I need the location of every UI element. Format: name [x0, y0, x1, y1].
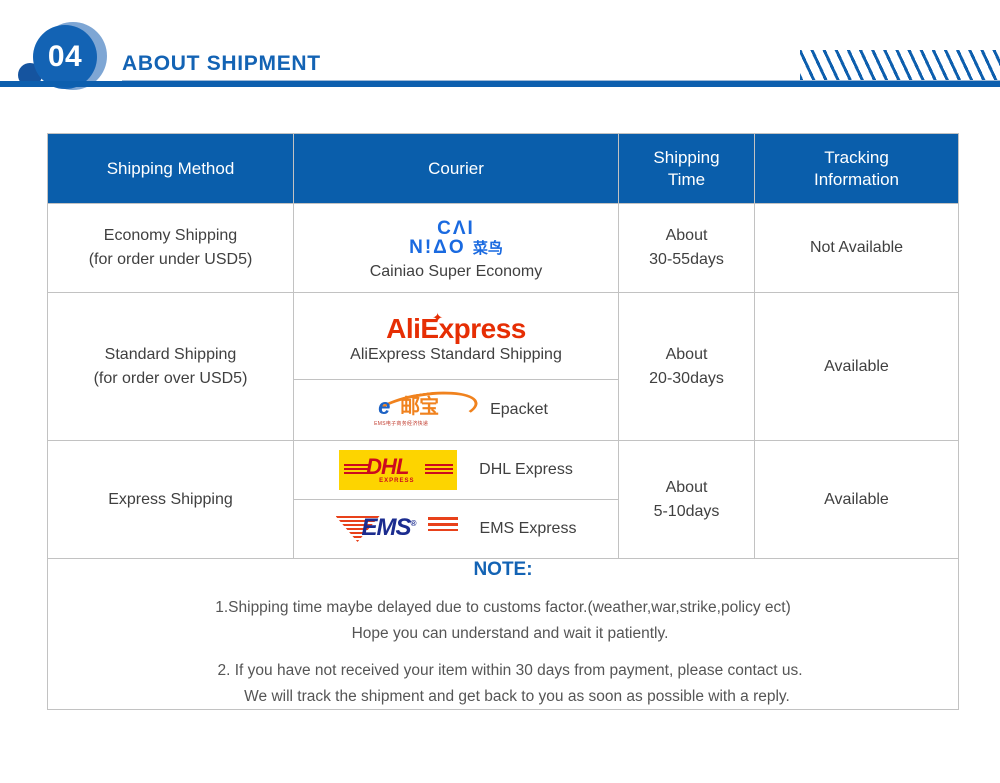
- cell-courier-ems: EMS® EMS Express: [294, 500, 619, 559]
- table-header: Shipping Method Courier Shipping Time Tr…: [48, 134, 959, 204]
- cell-shipping-method-standard: Standard Shipping (for order over USD5): [48, 293, 294, 441]
- time-line1: About: [619, 476, 754, 500]
- ems-logo-text: EMS®: [362, 516, 416, 540]
- header-thick-rule: [0, 81, 1000, 87]
- table-row-note: NOTE: 1.Shipping time maybe delayed due …: [48, 559, 959, 710]
- cell-courier-aliexpress: ✦ AliExpress AliExpress Standard Shippin…: [294, 293, 619, 380]
- courier-name: DHL Express: [479, 461, 573, 479]
- epacket-row: e 邮宝 EMS电子商务经济快递 Epacket: [294, 391, 618, 429]
- aliexpress-logo-icon: ✦ AliExpress: [386, 314, 526, 343]
- ems-logo-icon: EMS®: [336, 510, 458, 548]
- cainiao-logo-line1: CΛI: [294, 219, 618, 238]
- epacket-logo-chinese: 邮宝: [400, 397, 438, 417]
- note-line-1: 1.Shipping time maybe delayed due to cus…: [48, 595, 958, 621]
- table-row: Standard Shipping (for order over USD5) …: [48, 293, 959, 380]
- time-line1: About: [619, 343, 754, 367]
- courier-name: EMS Express: [480, 520, 577, 538]
- dhl-logo-subtitle: EXPRESS: [379, 478, 414, 484]
- column-header-shipping-time-line2: Time: [619, 169, 754, 190]
- shipping-table: Shipping Method Courier Shipping Time Tr…: [47, 133, 959, 710]
- dhl-speedlines-right-icon: [425, 464, 453, 474]
- method-line1: Express Shipping: [48, 488, 293, 512]
- ems-bars-icon: [428, 517, 458, 531]
- column-header-shipping-time: Shipping Time: [619, 134, 755, 204]
- column-header-courier: Courier: [294, 134, 619, 204]
- shipping-table-wrapper: Shipping Method Courier Shipping Time Tr…: [47, 133, 958, 710]
- cainiao-logo-line2: N!ΔO 菜鸟: [294, 238, 618, 257]
- cell-tracking-economy: Not Available: [755, 204, 959, 293]
- cainiao-logo-icon: CΛI N!ΔO 菜鸟: [294, 219, 618, 257]
- cell-note: NOTE: 1.Shipping time maybe delayed due …: [48, 559, 959, 710]
- time-line1: About: [619, 224, 754, 248]
- note-line-4: We will track the shipment and get back …: [48, 684, 958, 710]
- column-header-shipping-time-line1: Shipping: [619, 147, 754, 168]
- ems-registered-mark: ®: [411, 519, 416, 528]
- note-title: NOTE:: [48, 559, 958, 581]
- courier-name: Cainiao Super Economy: [294, 263, 618, 281]
- table-row: Express Shipping DHL EXPRESS DHL Express…: [48, 441, 959, 500]
- courier-name: AliExpress Standard Shipping: [294, 346, 618, 364]
- note-line-3: 2. If you have not received your item wi…: [48, 658, 958, 684]
- epacket-logo-subtitle: EMS电子商务经济快递: [374, 420, 428, 427]
- column-header-shipping-method: Shipping Method: [48, 134, 294, 204]
- column-header-tracking-line2: Information: [755, 169, 958, 190]
- cell-shipping-method-express: Express Shipping: [48, 441, 294, 559]
- time-line2: 20-30days: [619, 367, 754, 391]
- cell-shipping-time-standard: About 20-30days: [619, 293, 755, 441]
- time-line2: 30-55days: [619, 248, 754, 272]
- method-line1: Economy Shipping: [48, 224, 293, 248]
- cell-tracking-express: Available: [755, 441, 959, 559]
- method-line1: Standard Shipping: [48, 343, 293, 367]
- column-header-tracking-line1: Tracking: [755, 147, 958, 168]
- dhl-logo-text: DHL: [366, 456, 408, 478]
- cell-shipping-time-express: About 5-10days: [619, 441, 755, 559]
- method-line2: (for order over USD5): [48, 367, 293, 391]
- dhl-row: DHL EXPRESS DHL Express: [294, 450, 618, 490]
- aliexpress-star-icon: ✦: [432, 311, 442, 324]
- section-number: 04: [48, 42, 82, 72]
- epacket-logo-icon: e 邮宝 EMS电子商务经济快递: [364, 391, 476, 429]
- ems-logo-letters: EMS: [362, 514, 411, 541]
- cell-shipping-time-economy: About 30-55days: [619, 204, 755, 293]
- column-header-tracking-information: Tracking Information: [755, 134, 959, 204]
- cell-courier-dhl: DHL EXPRESS DHL Express: [294, 441, 619, 500]
- aliexpress-logo-text: AliExpress: [386, 313, 526, 344]
- cell-courier-cainiao: CΛI N!ΔO 菜鸟 Cainiao Super Economy: [294, 204, 619, 293]
- note-line-2: Hope you can understand and wait it pati…: [48, 621, 958, 647]
- dhl-logo-icon: DHL EXPRESS: [339, 450, 457, 490]
- page-title: ABOUT SHIPMENT: [122, 52, 321, 76]
- note-spacer: [48, 646, 958, 658]
- page-header: 04 ABOUT SHIPMENT: [0, 0, 1000, 112]
- diagonal-stripes-decoration: [800, 50, 1000, 80]
- time-line2: 5-10days: [619, 500, 754, 524]
- table-row: Economy Shipping (for order under USD5) …: [48, 204, 959, 293]
- table-header-row: Shipping Method Courier Shipping Time Tr…: [48, 134, 959, 204]
- epacket-logo-e: e: [378, 396, 390, 418]
- ems-row: EMS® EMS Express: [294, 510, 618, 548]
- cainiao-logo-chinese: 菜鸟: [473, 240, 503, 257]
- courier-name: Epacket: [490, 401, 548, 419]
- cell-courier-epacket: e 邮宝 EMS电子商务经济快递 Epacket: [294, 380, 619, 441]
- table-body: Economy Shipping (for order under USD5) …: [48, 204, 959, 710]
- cell-shipping-method-economy: Economy Shipping (for order under USD5): [48, 204, 294, 293]
- cell-tracking-standard: Available: [755, 293, 959, 441]
- cainiao-logo-latin: N!ΔO: [409, 237, 465, 258]
- method-line2: (for order under USD5): [48, 248, 293, 272]
- section-number-badge: 04: [33, 25, 97, 89]
